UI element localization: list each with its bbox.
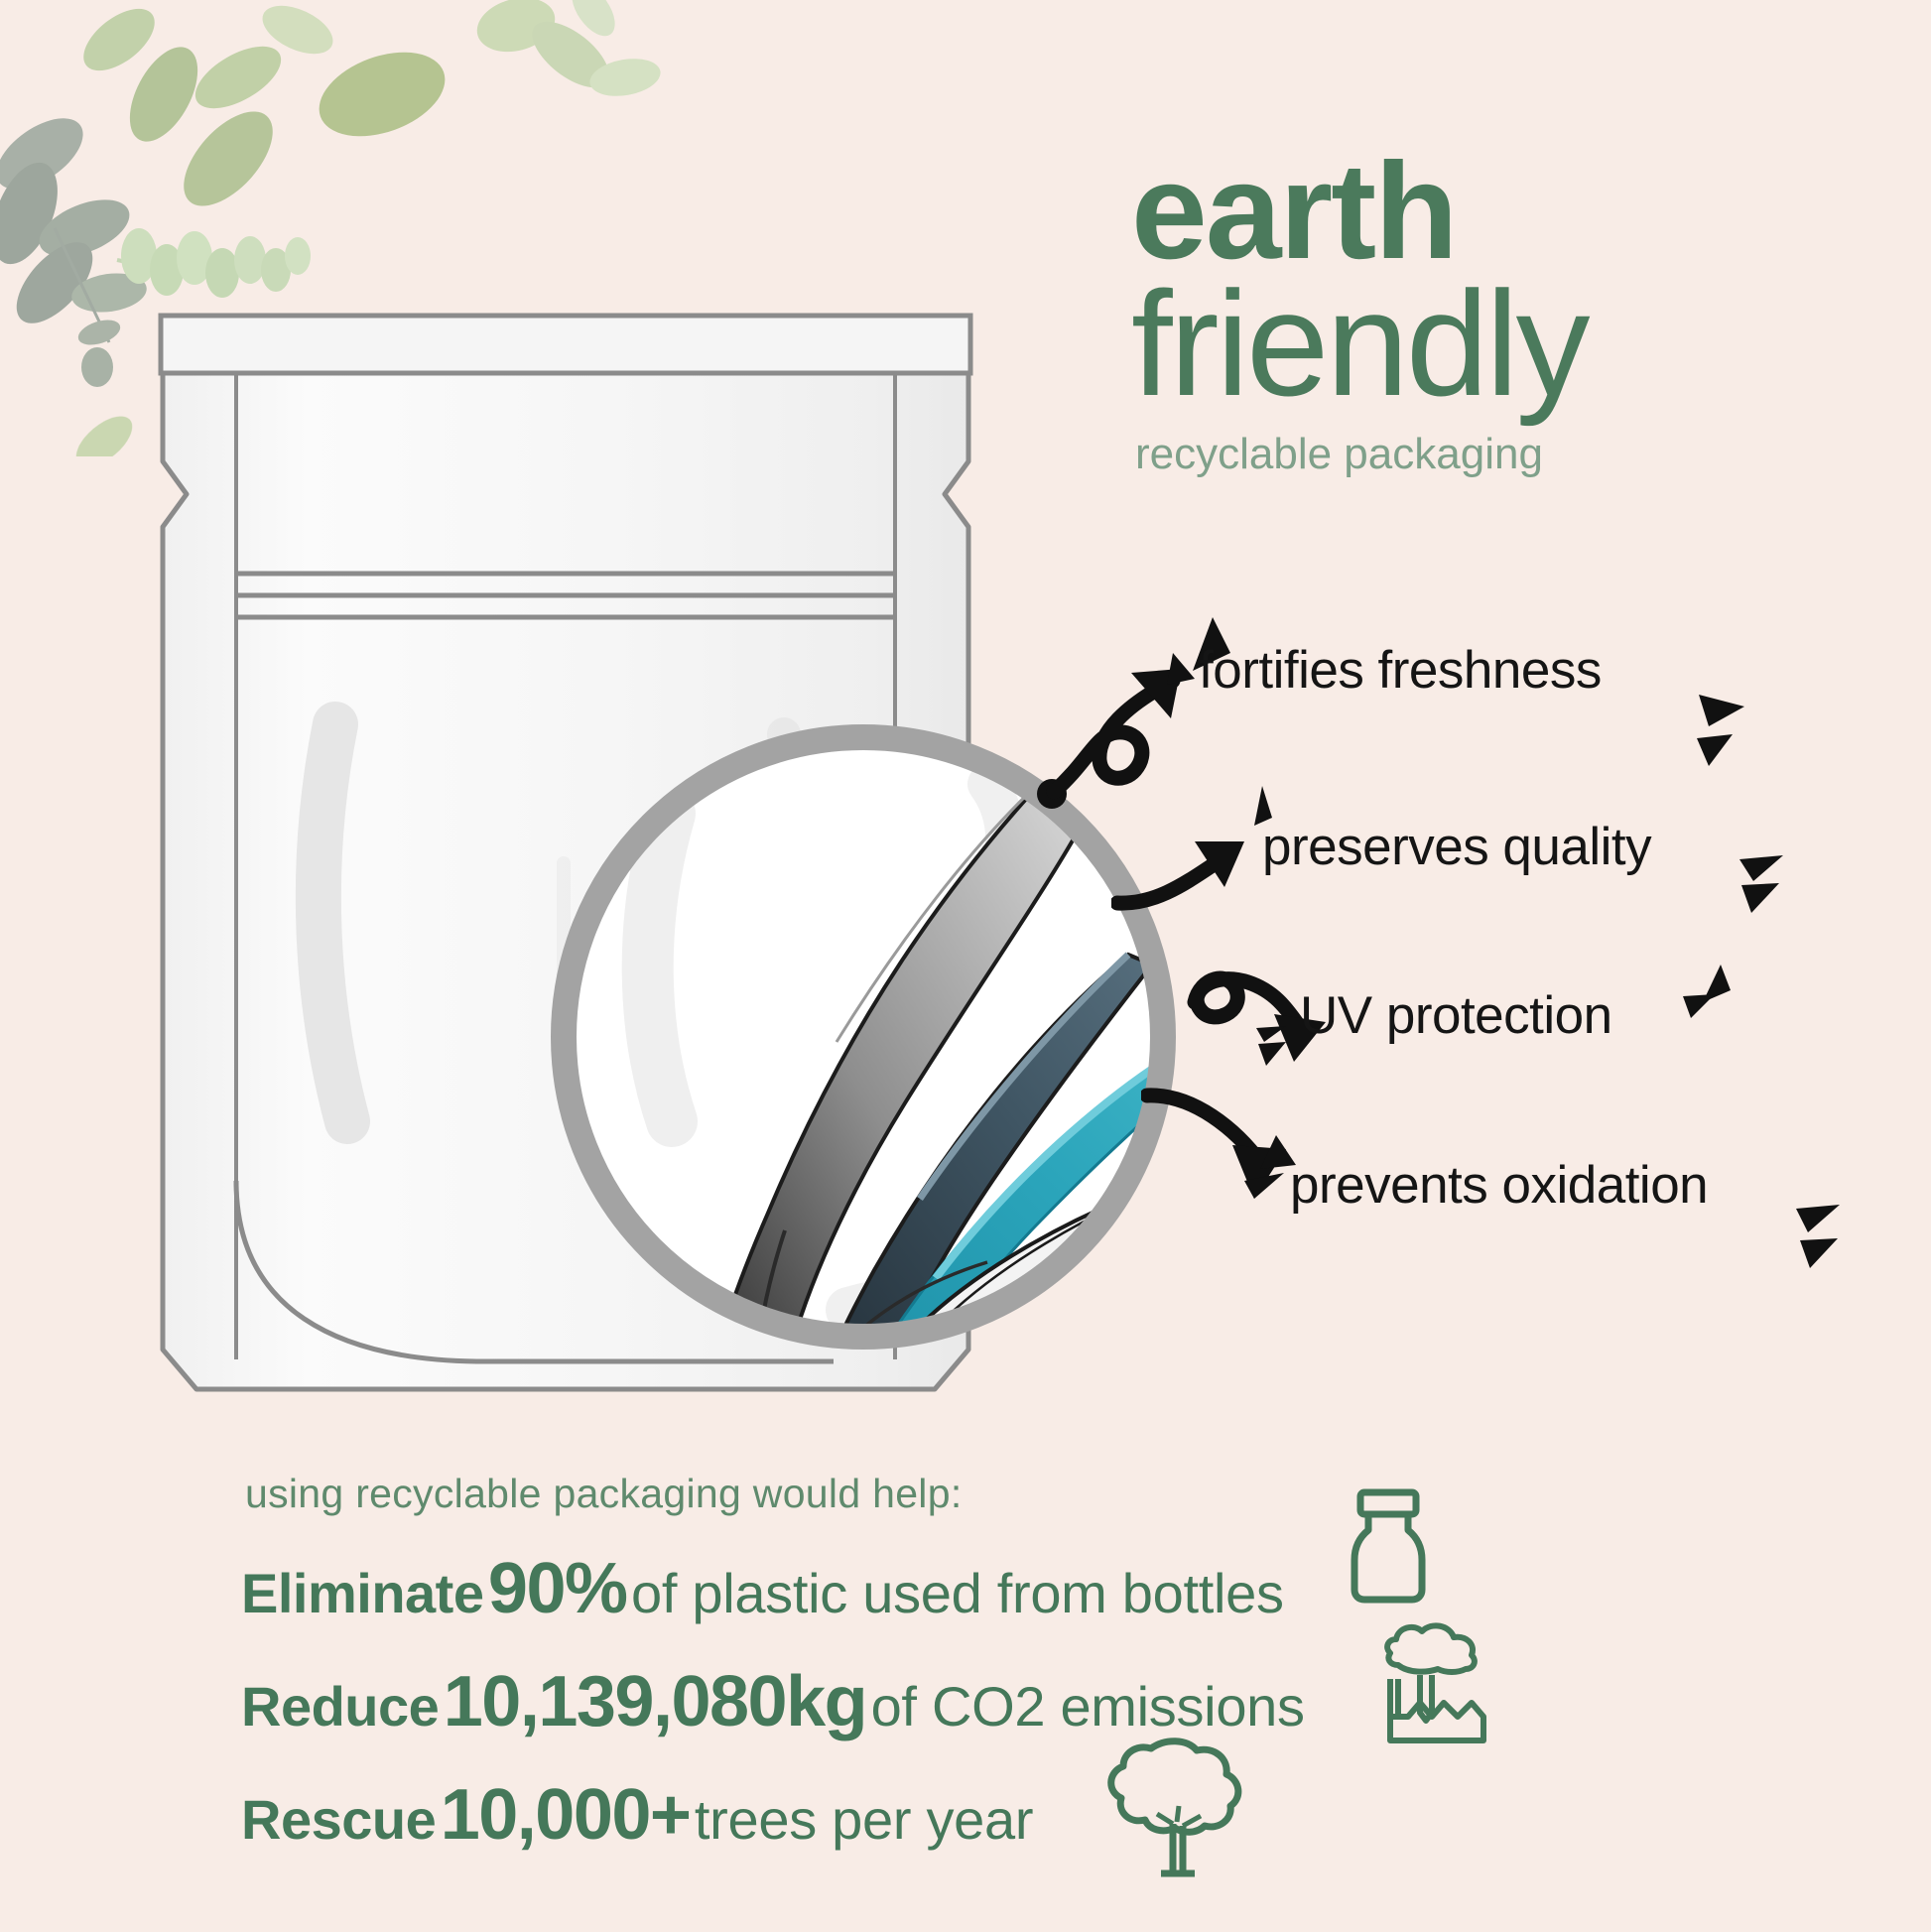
- stat-value: 10,000+: [441, 1775, 691, 1855]
- stat-value: 10,139,080kg: [444, 1662, 866, 1741]
- stat-row-rescue: Rescue 10,000+ trees per year: [241, 1779, 1630, 1851]
- feature-label-preserves-quality: preserves quality: [1262, 817, 1651, 877]
- factory-icon: [1374, 1617, 1493, 1756]
- stat-rest: of plastic used from bottles: [631, 1562, 1284, 1624]
- sparkle-icon: [1786, 1193, 1866, 1282]
- feature-label-uv-protection: UV protection: [1300, 985, 1612, 1046]
- sparkle-icon: [1669, 961, 1748, 1040]
- stat-value: 90%: [488, 1549, 627, 1628]
- bottle-icon: [1335, 1486, 1444, 1606]
- feature-label-prevents-oxidation: prevents oxidation: [1290, 1155, 1708, 1216]
- sparkle-icon: [1732, 839, 1811, 929]
- film-cross-section-magnifier: [521, 695, 1206, 1379]
- stat-verb: Eliminate: [241, 1562, 483, 1624]
- headline-line-earth: earth: [1131, 149, 1925, 275]
- tree-icon: [1092, 1735, 1250, 1883]
- headline-line-friendly: friendly: [1131, 275, 1925, 412]
- feature-label-fortifies-freshness: fortifies freshness: [1199, 640, 1602, 701]
- stat-verb: Reduce: [241, 1675, 439, 1738]
- sparkle-icon: [1687, 685, 1776, 784]
- earth-friendly-infographic: earth friendly recyclable packaging fort…: [0, 0, 1931, 1932]
- headline-subtitle: recyclable packaging: [1135, 430, 1925, 479]
- stat-rest: trees per year: [695, 1788, 1033, 1851]
- headline-block: earth friendly recyclable packaging: [1131, 149, 1925, 479]
- stat-rest: of CO2 emissions: [871, 1675, 1305, 1738]
- stat-verb: Rescue: [241, 1788, 436, 1851]
- sparkle-icon: [1248, 1008, 1308, 1078]
